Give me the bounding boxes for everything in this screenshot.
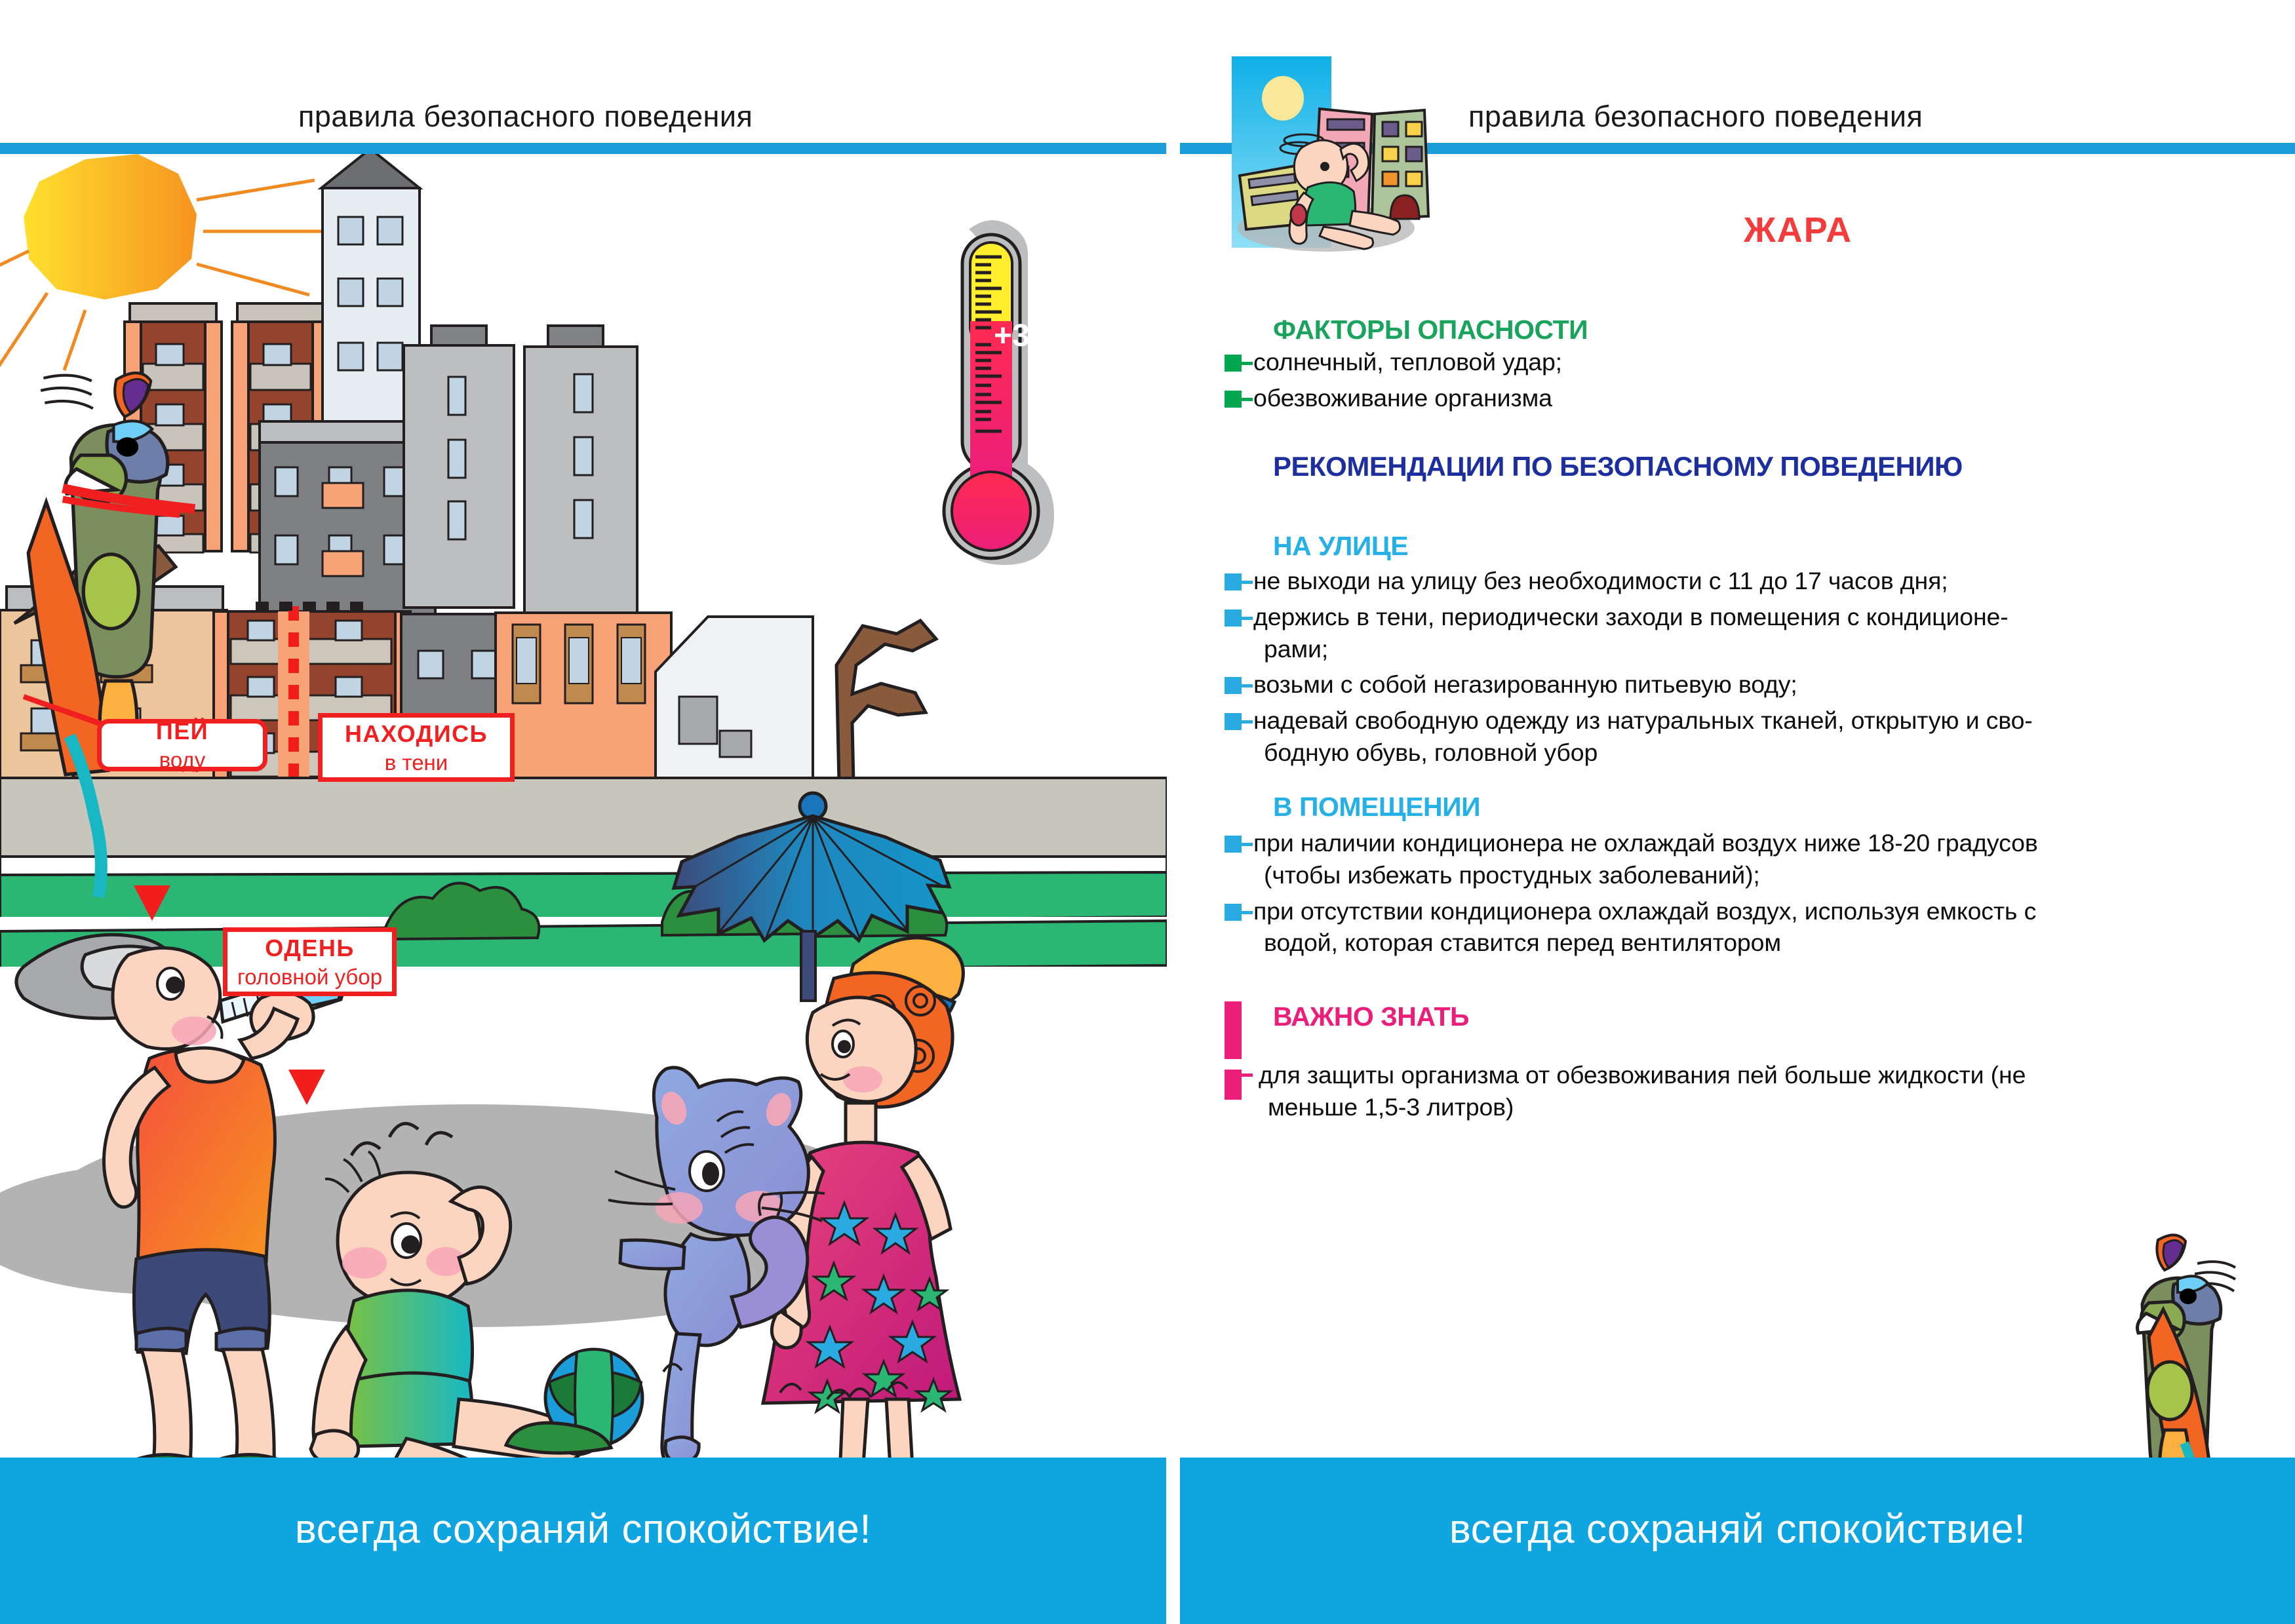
callout-stay-in-shade-sub: в тени [385, 750, 448, 775]
list-indoors: при наличии кондиционера не охлаждай воз… [1225, 827, 2247, 963]
important-dash-icon [1240, 1073, 1253, 1077]
square-bullet-icon [1225, 351, 1253, 376]
square-bullet-icon [1225, 387, 1253, 412]
callout-wear-headgear-title: ОДЕНЬ [265, 935, 355, 962]
header-title-right: правила безопасного поведения [1468, 100, 1923, 134]
list-item: солнечный, тепловой удар; [1225, 346, 2037, 378]
callout-wear-headgear-sub: головной убор [237, 965, 382, 990]
footer-banner-right: всегда сохраняй спокойствие! [1180, 1458, 2295, 1624]
callout-drink-water: ПЕЙ воду [97, 719, 267, 771]
list-danger-factors: солнечный, тепловой удар; обезвоживание … [1225, 346, 2037, 418]
callout-stay-in-shade: НАХОДИСЬ в тени [318, 713, 515, 782]
list-item-text: не выходи на улицу без необходимости с 1… [1253, 565, 1948, 597]
square-bullet-icon [1225, 832, 1253, 857]
heading-danger-factors: ФАКТОРЫ ОПАСНОСТИ [1273, 315, 1588, 345]
footer-text-left: всегда сохраняй спокойствие! [295, 1506, 871, 1553]
list-item: не выходи на улицу без необходимости с 1… [1225, 565, 2247, 597]
heat-safety-illustration: +30 [0, 154, 1167, 1458]
callout-drink-water-title: ПЕЙ [156, 718, 208, 745]
list-item-text: при наличии кондиционера не охлаждай воз… [1253, 827, 2038, 891]
list-item: надевай свободную одежду из натуральных … [1225, 705, 2247, 769]
list-outdoors: не выходи на улицу без необходимости с 1… [1225, 565, 2247, 773]
list-item: при наличии кондиционера не охлаждай воз… [1225, 827, 2247, 891]
thermometer-value-text: +30 [994, 319, 1047, 353]
square-bullet-icon [1225, 570, 1253, 595]
list-item: держись в тени, периодически заходи в по… [1225, 601, 2247, 665]
list-item-text: возьми с собой негазированную питьевую в… [1253, 668, 1797, 701]
list-item: обезвоживание организма [1225, 382, 2037, 414]
footer-text-right: всегда сохраняй спокойствие! [1449, 1506, 2026, 1553]
list-item-text: солнечный, тепловой удар; [1253, 346, 1562, 378]
heading-important: ВАЖНО ЗНАТЬ [1273, 1001, 1469, 1032]
footer-banner-left: всегда сохраняй спокойствие! [0, 1458, 1166, 1624]
list-item: при отсутствии кондиционера охлаждай воз… [1225, 895, 2247, 959]
page-title: ЖАРА [1744, 210, 1853, 250]
thermometer: +30 [944, 220, 1054, 565]
square-bullet-icon [1225, 606, 1253, 631]
list-item-text: обезвоживание организма [1253, 382, 1552, 414]
header-title-left: правила безопасного поведения [298, 100, 753, 134]
parrot-corner-icon [2129, 1227, 2286, 1476]
callout-stay-in-shade-title: НАХОДИСЬ [345, 720, 488, 748]
callout-wear-headgear: ОДЕНЬ головной убор [223, 927, 397, 996]
header-divider-left [0, 143, 1166, 154]
list-item-text: надевай свободную одежду из натуральных … [1253, 705, 2033, 769]
red-triangle-marker-3 [288, 1070, 325, 1105]
heading-outdoors: НА УЛИЦЕ [1273, 531, 1408, 562]
list-item-text: держись в тени, периодически заходи в по… [1253, 601, 2009, 665]
tree-right [836, 621, 936, 783]
callout-drink-water-sub: воду [159, 748, 206, 773]
list-item: возьми с собой негазированную питьевую в… [1225, 668, 2247, 701]
important-text: для защиты организма от обезвоживания пе… [1259, 1059, 2255, 1123]
cover-thumbnail-image [1228, 51, 1454, 267]
ball-and-cap [506, 1349, 642, 1453]
important-accent-bar [1225, 1001, 1242, 1059]
heading-indoors: В ПОМЕЩЕНИИ [1273, 792, 1480, 822]
heading-recommendations: РЕКОМЕНДАЦИИ ПО БЕЗОПАСНОМУ ПОВЕДЕНИЮ [1273, 451, 1963, 482]
square-bullet-icon [1225, 674, 1253, 699]
red-triangle-marker-2 [134, 885, 170, 921]
square-bullet-icon [1225, 710, 1253, 735]
illustration-svg: +30 [0, 154, 1167, 1458]
list-item-text: при отсутствии кондиционера охлаждай воз… [1253, 895, 2036, 959]
square-bullet-icon [1225, 900, 1253, 925]
important-accent-bar-2 [1225, 1070, 1242, 1100]
